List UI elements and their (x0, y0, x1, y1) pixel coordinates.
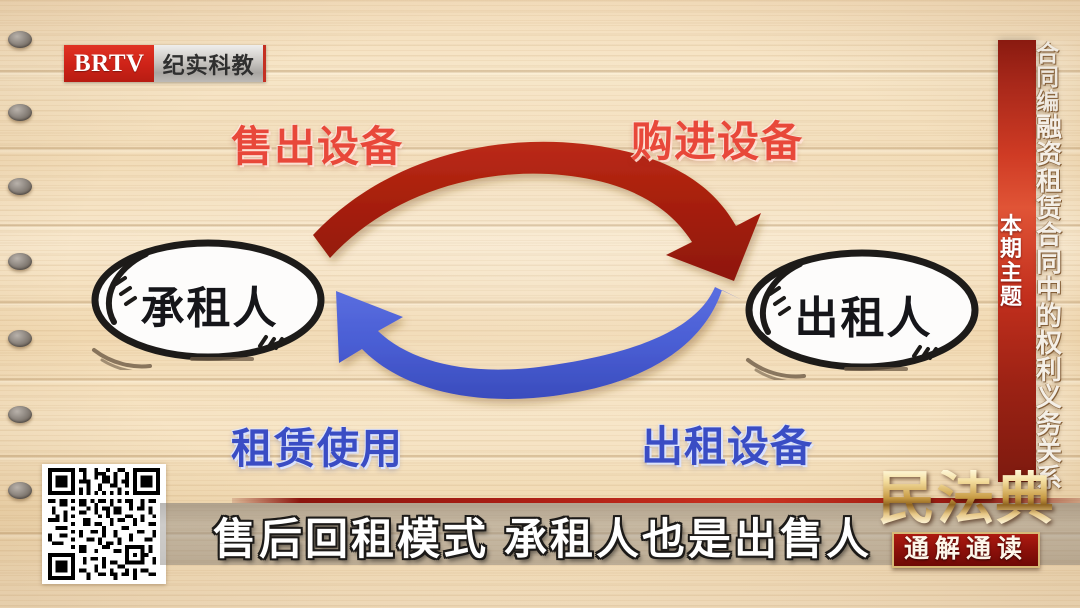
node-lessor-label: 出租人 (795, 282, 933, 346)
node-lessee: 承租人 (88, 238, 331, 370)
program-logo-title: 民法典 (877, 470, 1054, 528)
broadcast-screen: BRTV 纪实科教 本期主题 合同编 融资租赁合同中的权利义务关系 (0, 0, 1080, 608)
flow-label-buy-equipment: 购进设备 (631, 108, 803, 169)
node-lessor: 出租人 (742, 248, 985, 380)
flow-label-rent-out-equipment: 出租设备 (641, 413, 813, 474)
node-lessee-label: 承租人 (141, 272, 279, 336)
program-logo-banner: 通解通读 (892, 532, 1040, 568)
flow-label-lease-use: 租赁使用 (231, 415, 403, 476)
program-logo: 民法典 通解通读 (866, 470, 1066, 582)
program-logo-tagline: 通解通读 (904, 535, 1028, 563)
flow-label-sell-equipment: 售出设备 (231, 113, 403, 174)
arrow-bottom-blue (336, 287, 742, 399)
